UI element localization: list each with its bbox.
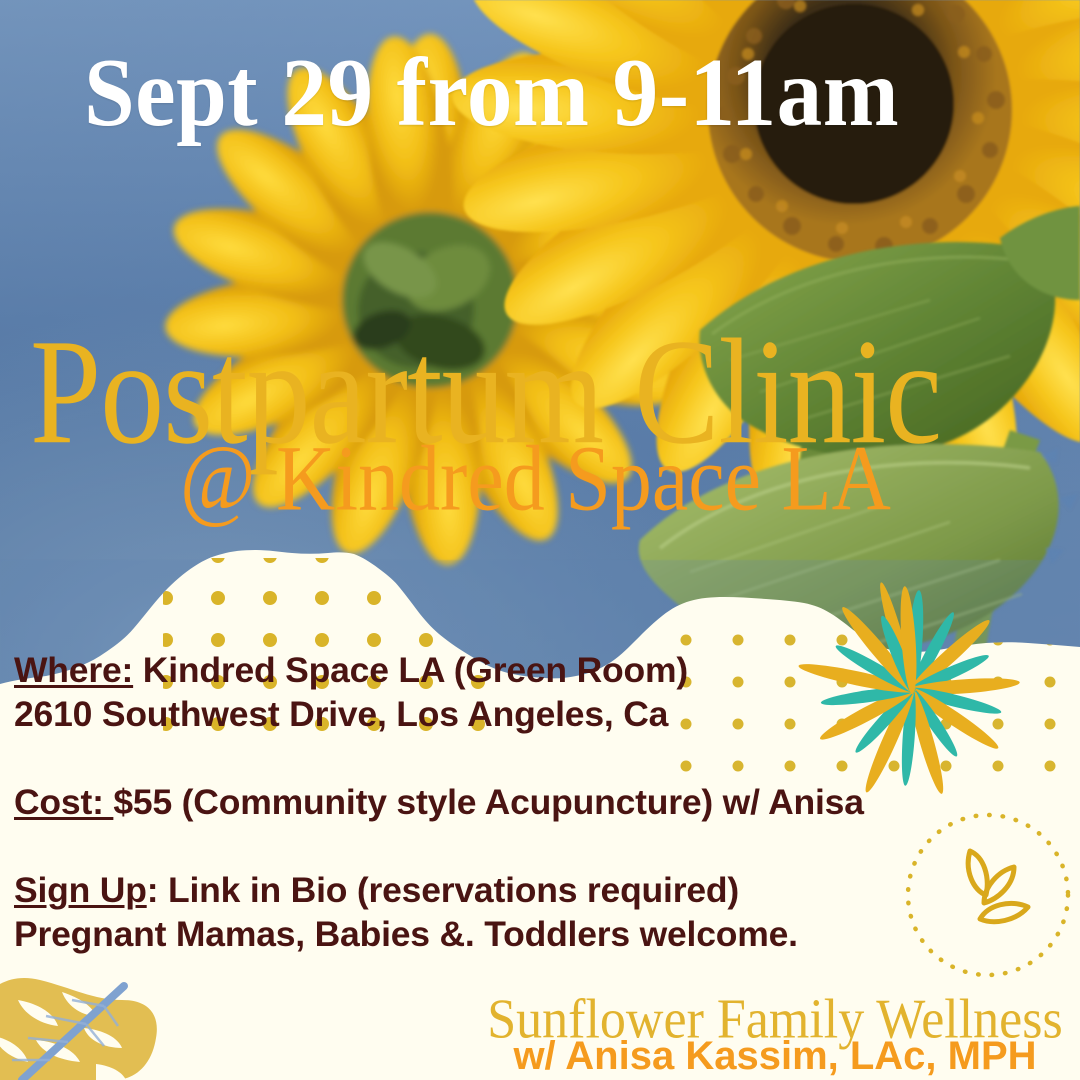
detail-text-address: 2610 Southwest Drive, Los Angeles, Ca [14,694,668,734]
detail-label-where: Where: [14,650,133,690]
detail-text-signup: : Link in Bio (reservations required) [147,870,739,910]
detail-spacer-1 [14,736,914,780]
detail-spacer-2 [14,824,914,868]
page-subtitle: @ Kindred Space LA [180,432,1080,525]
detail-row-signup: Sign Up: Link in Bio (reservations requi… [14,868,914,912]
page-headline: Sept 29 from 9-11am [84,44,968,143]
practitioner-name: w/ Anisa Kassim, LAc, MPH [470,1036,1080,1076]
event-details: Where: Kindred Space LA (Green Room) 261… [14,648,914,956]
detail-label-signup[interactable]: Sign Up [14,870,147,910]
dotted-circle-icon [908,815,1068,975]
detail-text-cost: $55 (Community style Acupuncture) w/ Ani… [113,782,863,822]
three-petals-icon [968,851,1028,922]
detail-text-welcome: Pregnant Mamas, Babies &. Toddlers welco… [14,914,798,954]
poster-canvas: Sept 29 from 9-11am Postpartum Clinic @ … [0,0,1080,1080]
detail-text-where: Kindred Space LA (Green Room) [133,650,688,690]
detail-row-welcome: Pregnant Mamas, Babies &. Toddlers welco… [14,912,914,956]
detail-row-address: 2610 Southwest Drive, Los Angeles, Ca [14,692,914,736]
monstera-leaf-icon [0,978,157,1080]
detail-row-cost: Cost: $55 (Community style Acupuncture) … [14,780,914,824]
detail-row-where: Where: Kindred Space LA (Green Room) [14,648,914,692]
detail-label-cost: Cost: [14,782,113,822]
